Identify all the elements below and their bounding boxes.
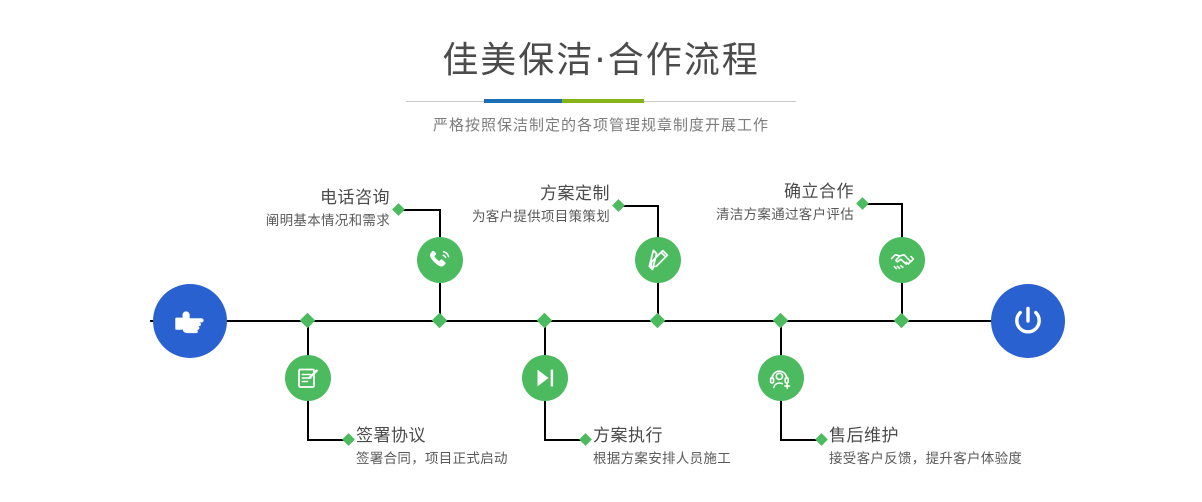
power-icon xyxy=(1007,300,1049,342)
step-desc-2: 签署合同，项目正式启动 xyxy=(356,448,606,470)
axis-marker-4 xyxy=(537,313,553,329)
step-icon-4[interactable] xyxy=(522,355,568,401)
step-title-2: 签署协议 xyxy=(356,424,606,448)
step-label-3: 方案定制 为客户提供项目策策划 xyxy=(390,182,610,228)
axis-marker-3 xyxy=(650,313,666,329)
step-label-5: 确立合作 清洁方案通过客户评估 xyxy=(634,180,854,226)
document-edit-icon xyxy=(295,365,321,391)
step-title-1: 电话咨询 xyxy=(170,186,390,210)
step-icon-3[interactable] xyxy=(635,237,681,283)
axis-marker-1 xyxy=(432,313,448,329)
step-desc-6: 接受客户反馈，提升客户体验度 xyxy=(829,448,1109,470)
step-icon-1[interactable] xyxy=(417,237,463,283)
step-label-6: 售后维护 接受客户反馈，提升客户体验度 xyxy=(829,424,1109,470)
phone-call-icon xyxy=(427,247,453,273)
step-title-4: 方案执行 xyxy=(593,424,843,448)
step-title-5: 确立合作 xyxy=(634,180,854,204)
customer-service-icon xyxy=(768,365,794,391)
timeline-start-endcap xyxy=(153,284,227,358)
branch-marker-5 xyxy=(856,197,869,210)
timeline-axis xyxy=(150,320,1050,322)
handshake-icon xyxy=(889,247,916,274)
axis-marker-6 xyxy=(773,313,789,329)
step-desc-3: 为客户提供项目策策划 xyxy=(390,206,610,228)
step-label-2: 签署协议 签署合同，项目正式启动 xyxy=(356,424,606,470)
step-label-1: 电话咨询 阐明基本情况和需求 xyxy=(170,186,390,232)
step-icon-2[interactable] xyxy=(285,355,331,401)
step-label-4: 方案执行 根据方案安排人员施工 xyxy=(593,424,843,470)
step-icon-6[interactable] xyxy=(758,355,804,401)
timeline: 电话咨询 阐明基本情况和需求 签署协议 签署合同，项目正式启动 xyxy=(0,0,1202,502)
step-desc-1: 阐明基本情况和需求 xyxy=(170,210,390,232)
step-title-6: 售后维护 xyxy=(829,424,1109,448)
step-title-3: 方案定制 xyxy=(390,182,610,206)
process-flow-infographic: 佳美保洁·合作流程 严格按照保洁制定的各项管理规章制度开展工作 xyxy=(0,0,1202,502)
play-execute-icon xyxy=(532,365,558,391)
pointing-hand-icon xyxy=(170,301,210,341)
timeline-end-endcap xyxy=(991,284,1065,358)
axis-marker-2 xyxy=(300,313,316,329)
step-desc-5: 清洁方案通过客户评估 xyxy=(634,204,854,226)
branch-marker-2 xyxy=(342,433,355,446)
branch-marker-3 xyxy=(612,199,625,212)
pencil-ruler-icon xyxy=(645,247,671,273)
connector-horizontal-5 xyxy=(864,203,903,205)
axis-marker-5 xyxy=(894,313,910,329)
step-icon-5[interactable] xyxy=(879,237,925,283)
step-desc-4: 根据方案安排人员施工 xyxy=(593,448,843,470)
